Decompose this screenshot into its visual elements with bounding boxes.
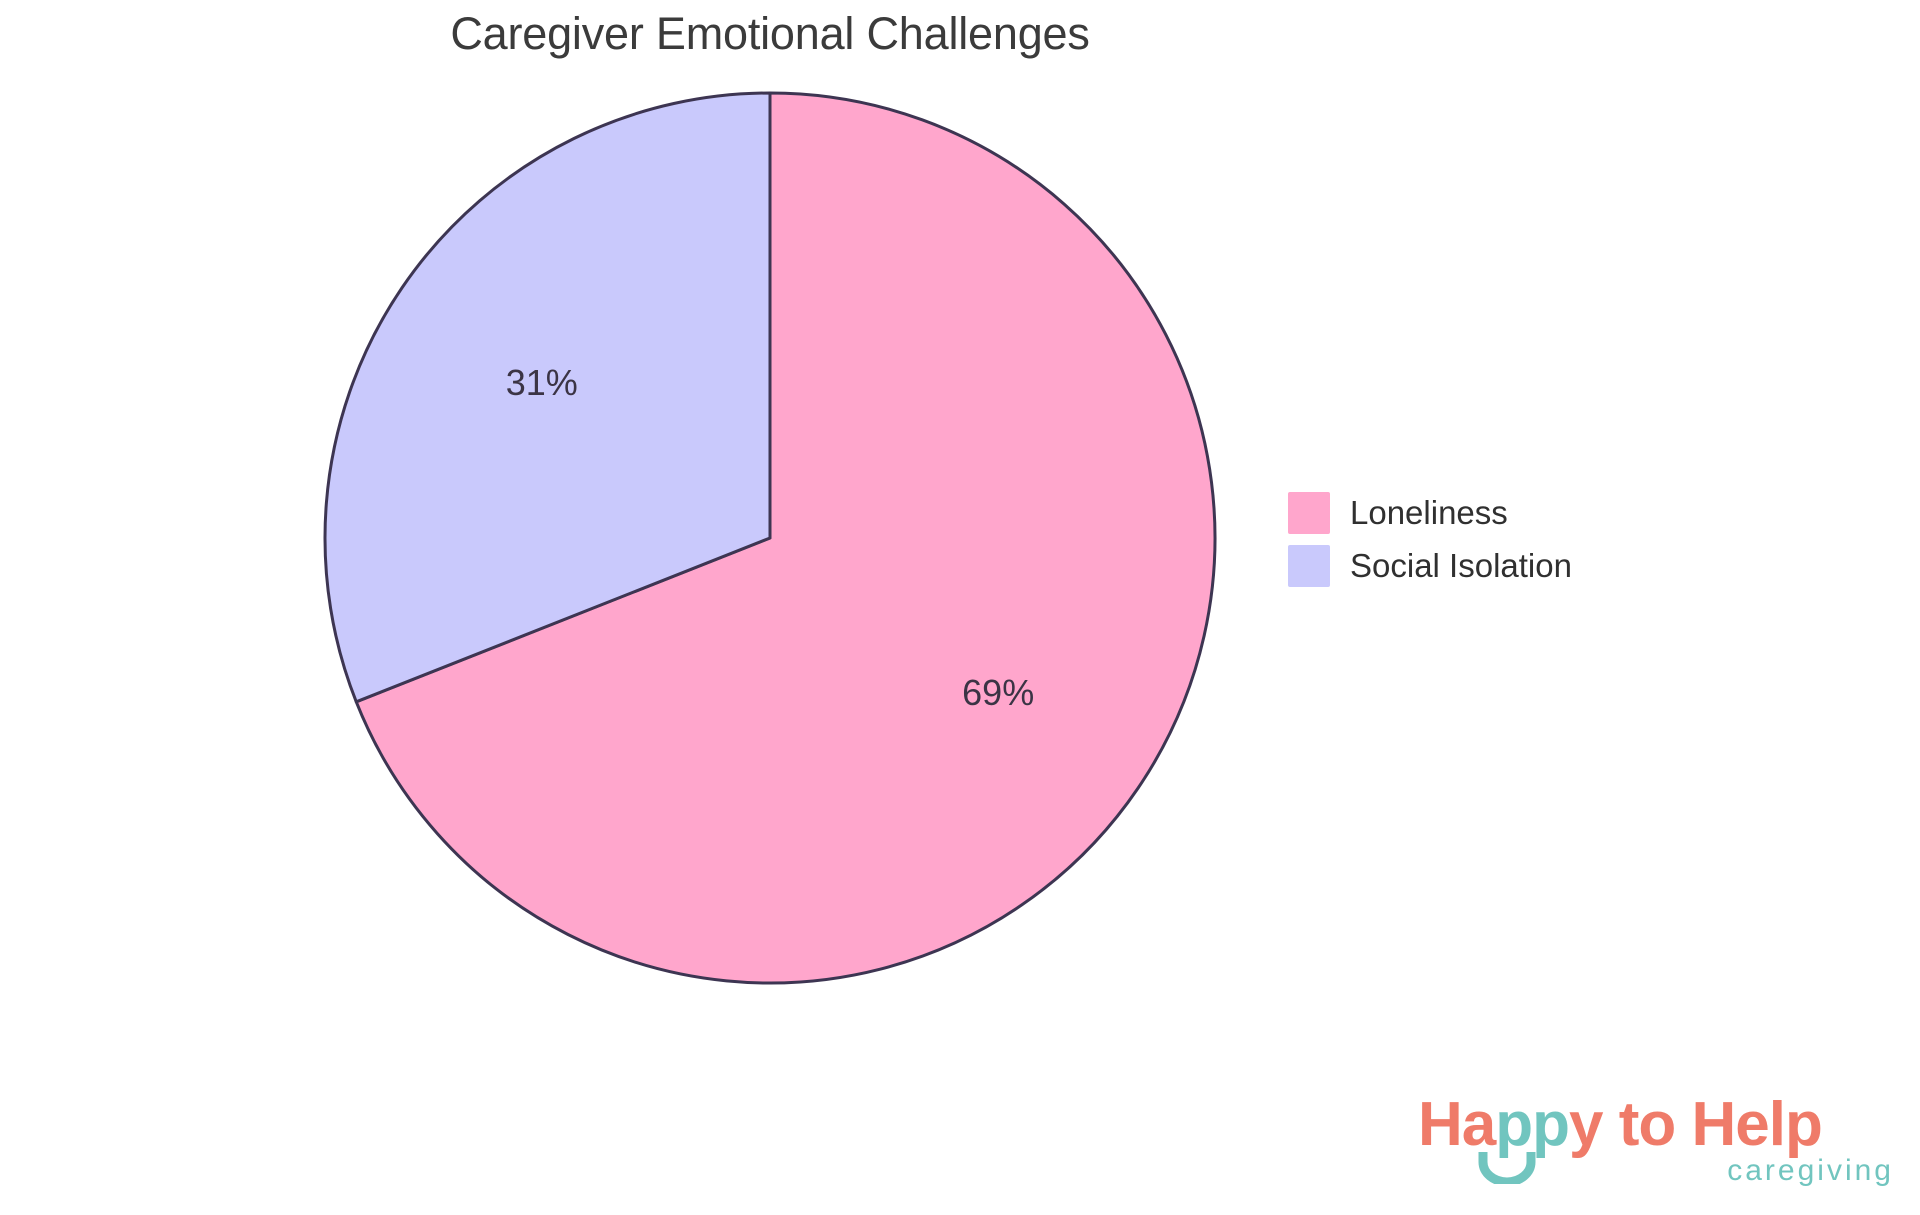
logo-smile-arc-icon <box>1477 1150 1537 1184</box>
legend-label-loneliness: Loneliness <box>1350 494 1508 532</box>
pie-svg: 31% 69% <box>0 0 1920 1215</box>
pie-chart-figure: Caregiver Emotional Challenges 31% 69% L… <box>0 0 1920 1215</box>
legend-item-social-isolation[interactable]: Social Isolation <box>1288 539 1572 592</box>
pie-slice-label-social-isolation: 31% <box>506 362 578 403</box>
pie-chart-canvas: 31% 69% <box>0 0 1920 1215</box>
legend-swatch-social-isolation <box>1288 545 1330 587</box>
legend-item-loneliness[interactable]: Loneliness <box>1288 486 1572 539</box>
logo-word-pp: pp <box>1495 1090 1569 1159</box>
legend-swatch-loneliness <box>1288 492 1330 534</box>
pie-slices <box>325 93 1215 983</box>
pie-slice-labels: 31% 69% <box>506 362 1034 713</box>
page-title: Caregiver Emotional Challenges <box>0 8 1540 60</box>
legend-label-social-isolation: Social Isolation <box>1350 547 1572 585</box>
logo-word-y: y <box>1569 1090 1602 1159</box>
pie-slice-label-loneliness: 69% <box>962 672 1034 713</box>
logo-tagline: caregiving <box>1727 1156 1894 1186</box>
pie-slice-social-isolation[interactable] <box>325 93 770 702</box>
logo-wordmark: Happy to Help <box>1418 1094 1822 1156</box>
brand-logo: Happy to Help caregiving <box>1418 1094 1898 1206</box>
chart-legend: Loneliness Social Isolation <box>1288 486 1572 592</box>
pie-slice-loneliness[interactable] <box>356 93 1215 983</box>
logo-word-to-help: to Help <box>1603 1090 1822 1159</box>
logo-word-ha: Ha <box>1418 1090 1495 1159</box>
